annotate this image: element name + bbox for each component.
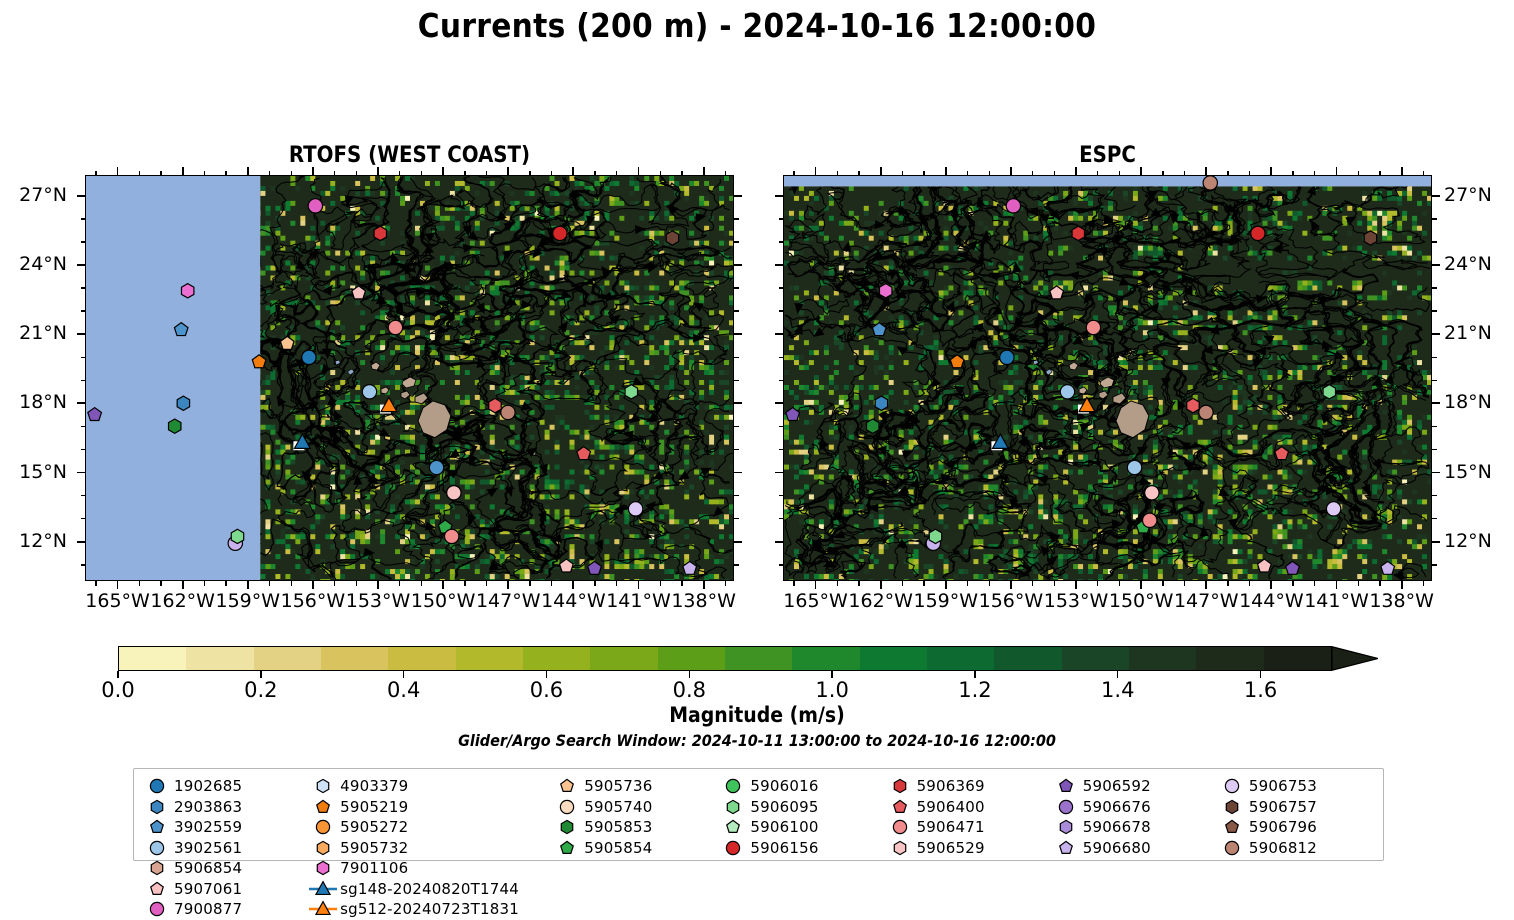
axis-tick: [312, 167, 314, 175]
legend-entry[interactable]: 5905272: [308, 817, 420, 838]
legend-marker-icon: [1217, 818, 1247, 837]
legend-label: 7901106: [338, 859, 408, 877]
legend-marker-icon: [142, 859, 172, 878]
map-marker: [388, 320, 402, 334]
legend-marker-icon: [885, 818, 915, 837]
axis-tick: [1432, 518, 1437, 519]
axis-tick: [779, 287, 784, 288]
axis-tick: [1140, 581, 1142, 589]
legend-marker-icon: [308, 818, 338, 837]
legend-marker-icon: [308, 838, 338, 857]
legend-marker-icon: [1051, 838, 1081, 857]
axis-tick: [1379, 581, 1380, 586]
axis-tick: [1432, 564, 1437, 565]
axis-tick: [1432, 287, 1437, 288]
map-marker: [1187, 398, 1199, 412]
axis-tick: [182, 167, 184, 175]
axis-tick: [442, 167, 444, 175]
map-marker: [867, 419, 879, 433]
legend-label: 5906095: [748, 798, 818, 816]
axis-tick: [616, 581, 617, 586]
legend-hexagon: [562, 821, 573, 834]
colorbar-swatch: [119, 647, 186, 670]
legend-entry[interactable]: 5905736: [552, 776, 664, 797]
legend-circle: [317, 821, 330, 834]
axis-tick: [1336, 167, 1338, 175]
axis-tick: [594, 581, 595, 586]
axis-tick: [779, 564, 784, 565]
axis-tick: [77, 541, 85, 543]
axis-tick: [81, 495, 86, 496]
legend-entry[interactable]: 5906676: [1051, 797, 1163, 818]
axis-tick: [204, 581, 205, 586]
legend-column: 5906753590675759067965906812: [1217, 776, 1329, 858]
axis-tick: [1119, 171, 1120, 176]
axis-tick: [734, 472, 742, 474]
y-tick-label: 27°N: [1444, 184, 1510, 206]
legend-label: 5906156: [748, 839, 818, 857]
axis-tick: [734, 333, 742, 335]
colorbar-tick: [831, 671, 832, 678]
marker-legend[interactable]: 1902685290386339025593902561490337959052…: [133, 768, 1384, 861]
axis-tick: [775, 402, 783, 404]
axis-tick: [858, 581, 859, 586]
map-marker: [666, 231, 678, 245]
y-tick-label: 18°N: [1, 391, 67, 413]
map-marker: [879, 284, 891, 298]
axis-tick: [779, 495, 784, 496]
legend-label: 5906796: [1247, 818, 1317, 836]
axis-tick: [734, 402, 742, 404]
axis-tick: [81, 449, 86, 450]
legend-label: 3902559: [172, 818, 242, 836]
axis-tick: [551, 171, 552, 176]
axis-tick: [1432, 541, 1440, 543]
axis-tick: [1270, 167, 1272, 175]
x-tick-label: 165°W: [781, 590, 851, 612]
x-tick-label: 156°W: [976, 590, 1046, 612]
axis-tick: [269, 581, 270, 586]
axis-tick: [1292, 581, 1293, 586]
legend-label: 5905854: [582, 839, 652, 857]
y-tick-label: 24°N: [1444, 253, 1510, 275]
legend-pentagon: [1059, 841, 1072, 853]
axis-tick: [989, 171, 990, 176]
axis-tick: [880, 167, 882, 175]
axis-tick: [1249, 171, 1250, 176]
legend-marker-icon: [885, 797, 915, 816]
axis-tick: [421, 581, 422, 586]
axis-tick: [464, 581, 465, 586]
legend-column: 4903379590521959052725905732: [308, 776, 420, 858]
legend-marker-icon: [308, 777, 338, 796]
legend-entry[interactable]: 7901106: [308, 858, 498, 879]
legend-pentagon: [561, 780, 574, 792]
axis-tick: [837, 171, 838, 176]
colorbar-swatch: [186, 647, 253, 670]
axis-tick: [399, 581, 400, 586]
legend-hexagon: [1226, 800, 1237, 813]
axis-tick: [734, 310, 739, 311]
axis-tick: [247, 581, 249, 589]
axis-tick: [160, 581, 161, 586]
axis-tick: [1054, 581, 1055, 586]
axis-tick: [442, 581, 444, 589]
axis-tick: [734, 195, 742, 197]
map-marker: [445, 529, 459, 543]
panel-title-rtofs: RTOFS (WEST COAST): [85, 143, 734, 168]
axis-tick: [1292, 171, 1293, 176]
axis-tick: [1097, 171, 1098, 176]
colorbar[interactable]: [118, 646, 1378, 671]
colorbar-tick: [403, 671, 404, 678]
axis-tick: [779, 241, 784, 242]
legend-entry[interactable]: 5906016: [718, 776, 830, 797]
legend-marker-icon: [718, 777, 748, 796]
figure-canvas: Currents (200 m) - 2024-10-16 12:00:00 R…: [0, 0, 1514, 889]
axis-tick: [77, 264, 85, 266]
legend-marker-icon: [142, 797, 172, 816]
legend-marker-icon: [142, 838, 172, 857]
colorbar-tick-label: 0.4: [364, 678, 444, 702]
legend-entry[interactable]: 5906812: [1217, 838, 1329, 859]
legend-pentagon: [151, 821, 164, 833]
axis-tick: [81, 310, 86, 311]
axis-tick: [334, 171, 335, 176]
colorbar-title: Magnitude (m/s): [0, 703, 1514, 727]
axis-tick: [779, 449, 784, 450]
axis-tick: [269, 171, 270, 176]
axis-tick: [1054, 171, 1055, 176]
colorbar-tick-label: 0.8: [649, 678, 729, 702]
axis-tick: [660, 581, 661, 586]
axis-tick: [734, 518, 739, 519]
legend-label: 5905853: [582, 818, 652, 836]
axis-tick: [1432, 402, 1440, 404]
x-tick-label: 159°W: [911, 590, 981, 612]
axis-tick: [117, 581, 119, 589]
axis-tick: [681, 171, 682, 176]
legend-label: 5905272: [338, 818, 408, 836]
rtofs-map-svg: [86, 176, 733, 580]
axis-tick: [734, 380, 739, 381]
axis-tick: [1314, 171, 1315, 176]
legend-entry[interactable]: 5906753: [1217, 776, 1329, 797]
x-tick-label: 147°W: [1171, 590, 1241, 612]
x-tick-label: 147°W: [473, 590, 543, 612]
map-panel-espc[interactable]: [783, 175, 1432, 581]
axis-tick: [1432, 357, 1437, 358]
legend-entry[interactable]: 5906796: [1217, 817, 1329, 838]
axis-tick: [902, 171, 903, 176]
axis-tick: [1270, 581, 1272, 589]
legend-hexagon: [728, 800, 739, 813]
legend-entry[interactable]: 5906678: [1051, 817, 1163, 838]
axis-tick: [1358, 581, 1359, 586]
legend-label: 7900877: [172, 900, 242, 918]
axis-tick: [377, 167, 379, 175]
map-marker: [177, 396, 189, 410]
legend-entry[interactable]: 5906854: [142, 858, 254, 879]
map-marker: [875, 396, 887, 410]
axis-tick: [1140, 167, 1142, 175]
axis-tick: [1432, 310, 1437, 311]
legend-entry[interactable]: 5905854: [552, 838, 664, 859]
legend-entry[interactable]: 5906100: [718, 817, 830, 838]
axis-tick: [775, 195, 783, 197]
colorbar-tick-label: 0.2: [221, 678, 301, 702]
legend-entry[interactable]: 5905732: [308, 838, 420, 859]
axis-tick: [775, 541, 783, 543]
axis-tick: [967, 581, 968, 586]
map-marker: [308, 199, 322, 213]
axis-tick: [1401, 581, 1403, 589]
legend-pentagon: [561, 841, 574, 853]
colorbar-tick: [1260, 671, 1261, 678]
colorbar-swatch: [523, 647, 590, 670]
map-marker: [362, 385, 376, 399]
colorbar-tick-label: 1.0: [792, 678, 872, 702]
legend-pentagon: [317, 800, 330, 812]
legend-circle: [727, 780, 740, 793]
y-tick-label: 15°N: [1444, 461, 1510, 483]
legend-hexagon: [151, 862, 162, 875]
legend-entry[interactable]: 2903863: [142, 797, 254, 818]
axis-tick: [1432, 264, 1440, 266]
legend-marker-icon: [1051, 797, 1081, 816]
colorbar-gradient: [118, 646, 1332, 671]
legend-column: 5905736590574059058535905854: [552, 776, 664, 858]
legend-entry[interactable]: 1902685: [142, 776, 254, 797]
figure-title: Currents (200 m) - 2024-10-16 12:00:00: [0, 6, 1514, 45]
map-marker: [1199, 405, 1213, 419]
axis-tick: [1097, 581, 1098, 586]
colorbar-tick: [117, 671, 118, 678]
axis-tick: [734, 426, 739, 427]
panel-title-espc: ESPC: [783, 143, 1432, 168]
colorbar-swatch: [456, 647, 523, 670]
axis-tick: [967, 171, 968, 176]
legend-label: 5906016: [748, 777, 818, 795]
legend-label: 5906676: [1081, 798, 1151, 816]
axis-tick: [1432, 218, 1437, 219]
legend-entry[interactable]: 5906757: [1217, 797, 1329, 818]
axis-tick: [81, 287, 86, 288]
colorbar-swatch: [658, 647, 725, 670]
map-marker: [1072, 226, 1084, 240]
colorbar-tick: [1117, 671, 1118, 678]
axis-tick: [139, 171, 140, 176]
legend-entry[interactable]: 5906680: [1051, 838, 1163, 859]
axis-tick: [507, 581, 509, 589]
legend-circle: [1225, 780, 1238, 793]
legend-entry[interactable]: 4903379: [308, 776, 420, 797]
legend-circle: [150, 903, 163, 916]
legend-marker-icon: [718, 838, 748, 857]
axis-tick: [572, 167, 574, 175]
legend-label: 5906753: [1247, 777, 1317, 795]
axis-tick: [1119, 581, 1120, 586]
axis-tick: [815, 167, 817, 175]
colorbar-swatch: [1062, 647, 1129, 670]
legend-marker-icon: [1051, 818, 1081, 837]
legend-hexagon: [1060, 821, 1071, 834]
legend-hexagon: [317, 862, 328, 875]
axis-tick: [902, 581, 903, 586]
axis-tick: [725, 171, 726, 176]
colorbar-swatch: [860, 647, 927, 670]
map-marker: [1364, 231, 1376, 245]
colorbar-tick-label: 1.2: [935, 678, 1015, 702]
legend-marker-icon: [552, 777, 582, 796]
map-marker: [489, 398, 501, 412]
colorbar-tick: [689, 671, 690, 678]
colorbar-swatch: [388, 647, 455, 670]
x-tick-label: 153°W: [343, 590, 413, 612]
axis-tick: [1423, 581, 1424, 586]
x-tick-label: 162°W: [846, 590, 916, 612]
colorbar-tick-label: 0.0: [78, 678, 158, 702]
legend-entry[interactable]: 3902559: [142, 817, 254, 838]
axis-tick: [638, 167, 640, 175]
legend-entry[interactable]: 5906471: [885, 817, 997, 838]
axis-tick: [117, 167, 119, 175]
axis-tick: [779, 426, 784, 427]
axis-tick: [139, 581, 140, 586]
legend-marker-icon: [885, 777, 915, 796]
legend-hexagon: [317, 780, 328, 793]
axis-tick: [81, 564, 86, 565]
axis-tick: [77, 195, 85, 197]
axis-tick: [486, 171, 487, 176]
axis-tick: [1423, 171, 1424, 176]
axis-tick: [880, 581, 882, 589]
legend-marker-icon: [308, 900, 338, 919]
colorbar-tick-label: 1.6: [1221, 678, 1301, 702]
axis-tick: [989, 581, 990, 586]
axis-tick: [734, 449, 739, 450]
colorbar-extend-arrow: [1332, 646, 1378, 671]
legend-hexagon: [894, 780, 905, 793]
axis-tick: [1010, 581, 1012, 589]
legend-column: 1902685290386339025593902561: [142, 776, 254, 858]
legend-marker-icon: [142, 900, 172, 919]
map-marker: [628, 502, 642, 516]
axis-tick: [815, 581, 817, 589]
y-tick-label: 12°N: [1444, 530, 1510, 552]
legend-entry[interactable]: 5906095: [718, 797, 830, 818]
colorbar-swatch: [254, 647, 321, 670]
colorbar-swatch: [792, 647, 859, 670]
axis-tick: [529, 171, 530, 176]
axis-tick: [779, 380, 784, 381]
y-tick-label: 27°N: [1, 184, 67, 206]
map-panel-rtofs[interactable]: [85, 175, 734, 581]
axis-tick: [923, 171, 924, 176]
legend-entry[interactable]: 5905219: [308, 797, 420, 818]
colorbar-swatch: [1129, 647, 1196, 670]
legend-entry[interactable]: 5906156: [718, 838, 830, 859]
axis-tick: [837, 581, 838, 586]
map-marker: [374, 226, 386, 240]
legend-entry[interactable]: 5905740: [552, 797, 664, 818]
axis-tick: [95, 581, 96, 586]
colorbar-swatch: [590, 647, 657, 670]
legend-label: 5905219: [338, 798, 408, 816]
axis-tick: [734, 541, 742, 543]
legend-circle: [150, 780, 163, 793]
axis-tick: [356, 581, 357, 586]
legend-entry[interactable]: 5906592: [1051, 776, 1163, 797]
axis-tick: [1314, 581, 1315, 586]
legend-entry[interactable]: 7900877: [142, 899, 254, 920]
axis-tick: [703, 581, 705, 589]
axis-tick: [291, 171, 292, 176]
axis-tick: [779, 310, 784, 311]
axis-tick: [1432, 241, 1437, 242]
map-marker: [553, 226, 567, 240]
legend-entry[interactable]: 5906400: [885, 797, 997, 818]
colorbar-swatch: [321, 647, 388, 670]
axis-tick: [775, 472, 783, 474]
legend-label: 5906757: [1247, 798, 1317, 816]
axis-tick: [1227, 171, 1228, 176]
axis-tick: [1162, 171, 1163, 176]
x-tick-label: 159°W: [213, 590, 283, 612]
legend-entry[interactable]: 5905853: [552, 817, 664, 838]
map-marker: [181, 284, 193, 298]
x-tick-label: 162°W: [148, 590, 218, 612]
axis-tick: [1184, 581, 1185, 586]
map-marker: [447, 486, 461, 500]
legend-marker-icon: [1217, 797, 1247, 816]
axis-tick: [81, 426, 86, 427]
colorbar-tick: [974, 671, 975, 678]
axis-tick: [1432, 449, 1437, 450]
legend-marker-icon: [552, 818, 582, 837]
axis-tick: [734, 564, 739, 565]
map-marker: [1323, 385, 1335, 399]
legend-label: 5905732: [338, 839, 408, 857]
map-marker: [1006, 199, 1020, 213]
legend-entry[interactable]: 5906369: [885, 776, 997, 797]
map-marker: [625, 385, 637, 399]
axis-tick: [616, 171, 617, 176]
legend-entry[interactable]: 3902561: [142, 838, 254, 859]
axis-tick: [225, 171, 226, 176]
legend-entry[interactable]: sg512-20240723T1831: [308, 899, 498, 920]
y-tick-label: 15°N: [1, 461, 67, 483]
legend-label: 5906100: [748, 818, 818, 836]
axis-tick: [594, 171, 595, 176]
legend-entry[interactable]: 5906529: [885, 838, 997, 859]
axis-tick: [1162, 581, 1163, 586]
axis-tick: [734, 264, 742, 266]
legend-label: 5906680: [1081, 839, 1151, 857]
y-tick-label: 21°N: [1444, 322, 1510, 344]
axis-tick: [291, 581, 292, 586]
y-tick-label: 18°N: [1444, 391, 1510, 413]
x-tick-label: 144°W: [538, 590, 608, 612]
legend-marker-icon: [1217, 838, 1247, 857]
colorbar-tick: [546, 671, 547, 678]
x-tick-label: 144°W: [1236, 590, 1306, 612]
axis-tick: [1432, 472, 1440, 474]
axis-tick: [858, 171, 859, 176]
colorbar-tick-label: 1.4: [1078, 678, 1158, 702]
legend-marker-icon: [718, 797, 748, 816]
map-marker: [1326, 502, 1340, 516]
